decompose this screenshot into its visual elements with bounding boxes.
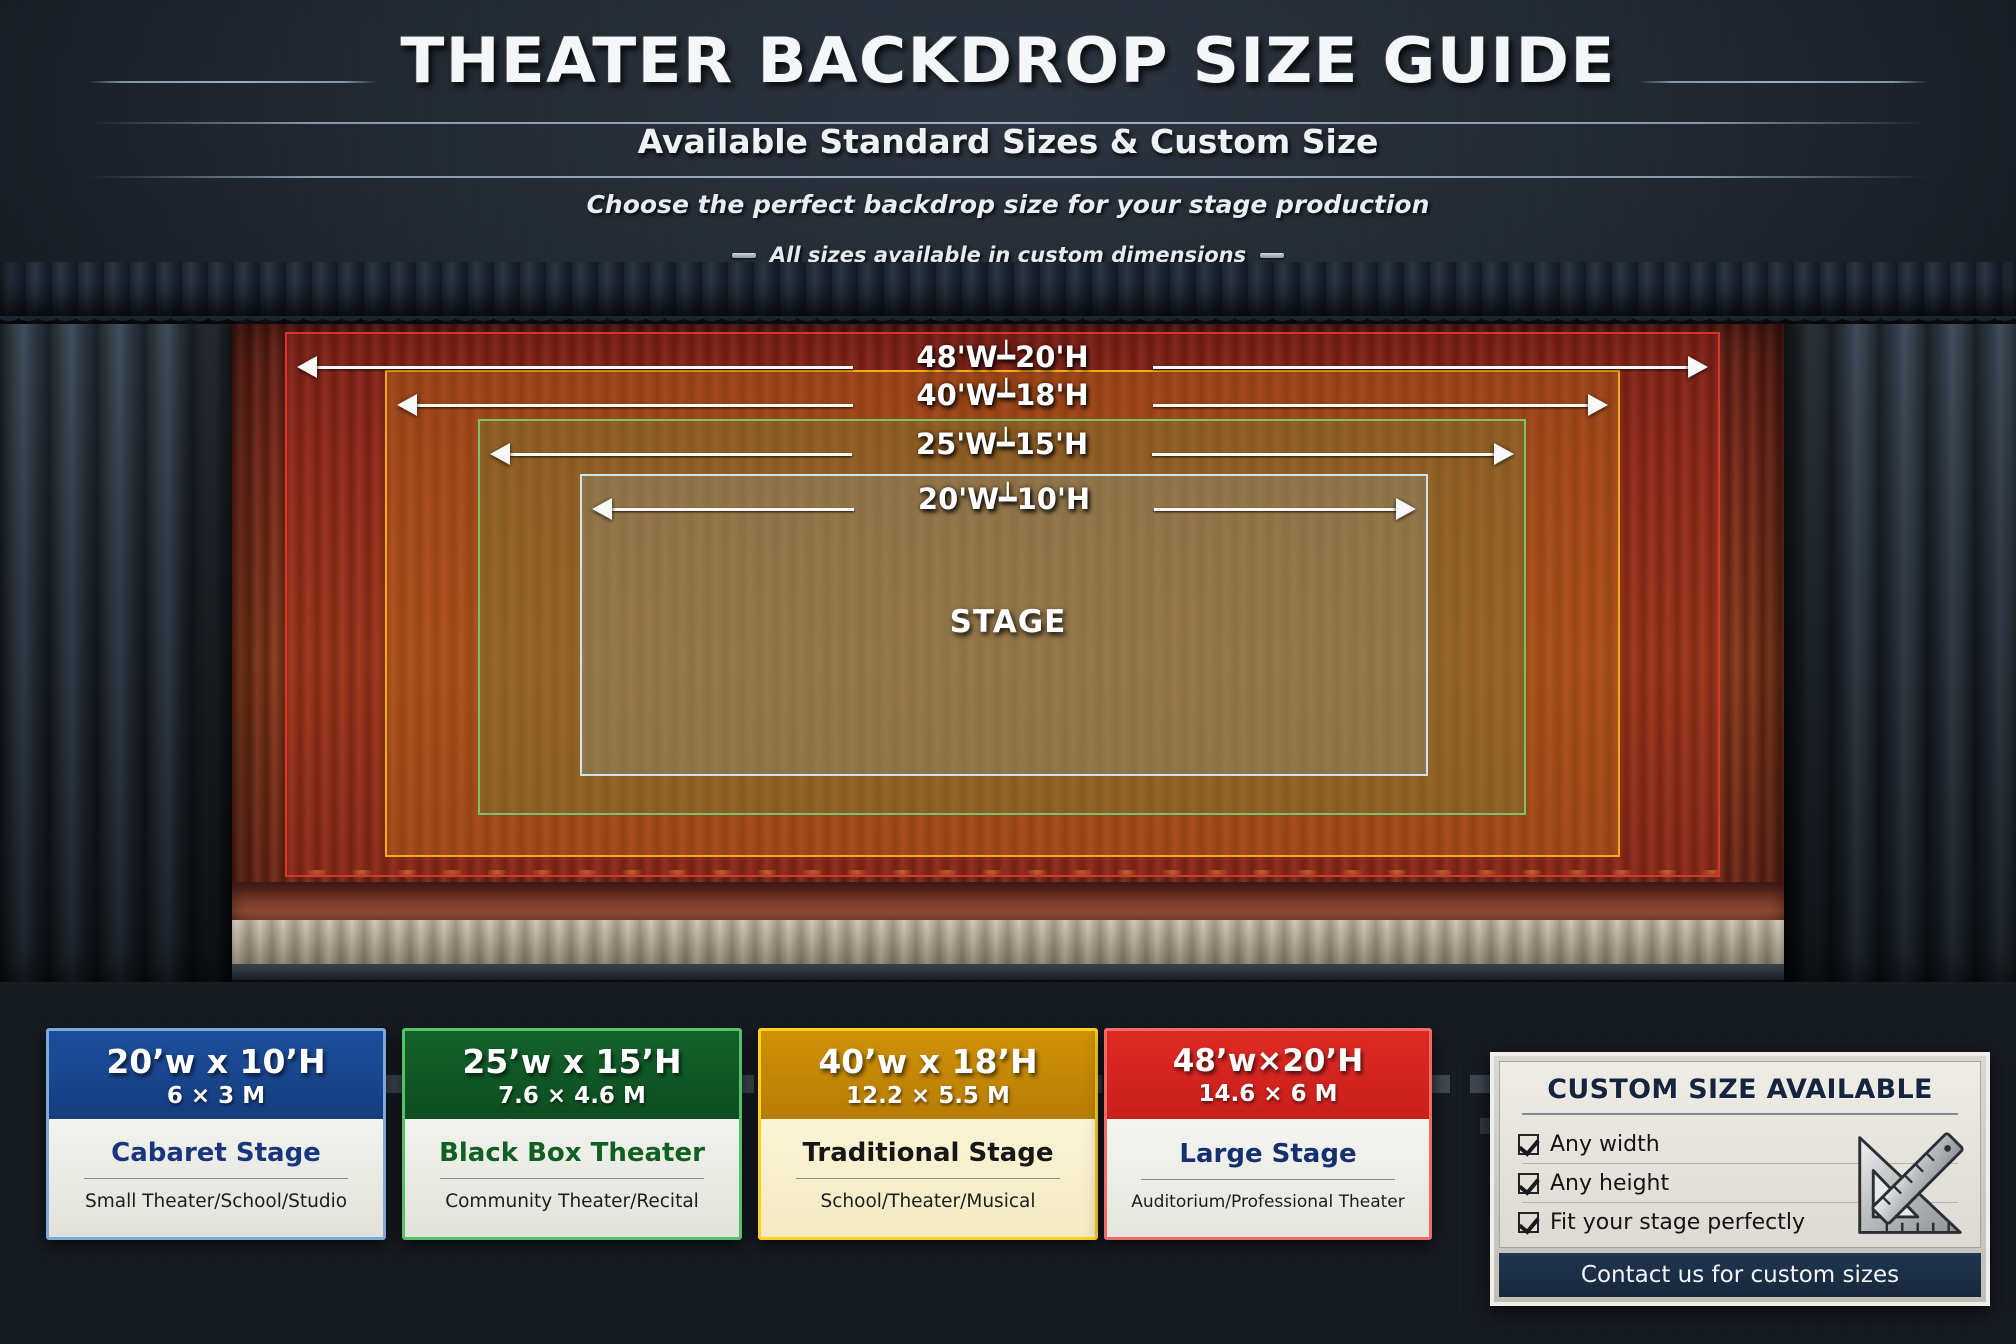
arrow-bar-right — [1153, 366, 1689, 369]
size-card-divider — [796, 1178, 1060, 1179]
size-card-divider — [1141, 1179, 1395, 1180]
dimension-arrow-20x10 — [592, 498, 1416, 520]
arrow-bar-right — [1152, 453, 1494, 456]
size-card-feet: 20’w x 10’H — [106, 1042, 325, 1081]
arrow-bar-right — [1153, 404, 1589, 407]
contact-bar-label: Contact us for custom sizes — [1581, 1262, 1899, 1288]
dimension-arrow-25x15 — [490, 443, 1514, 465]
custom-feature-label: Fit your stage perfectly — [1550, 1210, 1805, 1235]
size-card-meters: 7.6 × 4.6 M — [498, 1083, 646, 1109]
size-card-body: Traditional Stage School/Theater/Musical — [761, 1119, 1095, 1237]
size-card-usage: School/Theater/Musical — [821, 1191, 1036, 1212]
custom-feature-label: Any width — [1550, 1132, 1660, 1157]
arrow-bar-left — [612, 508, 854, 511]
size-card-divider — [84, 1178, 348, 1179]
size-card-body: Black Box Theater Community Theater/Reci… — [405, 1119, 739, 1237]
size-card-feet: 48’w×20’H — [1173, 1043, 1363, 1079]
checkbox-checked-icon[interactable] — [1518, 1134, 1539, 1155]
arrow-bar-left — [510, 453, 852, 456]
arrow-left-icon — [592, 498, 612, 520]
size-card-name: Black Box Theater — [439, 1138, 705, 1168]
checkbox-checked-icon[interactable] — [1518, 1212, 1539, 1233]
size-card-header: 48’w×20’H 14.6 × 6 M — [1107, 1031, 1429, 1119]
arrow-right-icon — [1688, 356, 1708, 378]
infographic-root: THEATER BACKDROP SIZE GUIDE Available St… — [0, 0, 2016, 1344]
size-card-traditional-stage[interactable]: 40’w x 18’H 12.2 × 5.5 M Traditional Sta… — [758, 1028, 1098, 1240]
size-card-feet: 25’w x 15’H — [462, 1042, 681, 1081]
size-card-header: 25’w x 15’H 7.6 × 4.6 M — [405, 1031, 739, 1119]
size-card-name: Cabaret Stage — [111, 1138, 321, 1168]
page-subtitle: Available Standard Sizes & Custom Size — [0, 122, 2016, 161]
arrow-bar-left — [317, 366, 853, 369]
stage-label: STAGE — [0, 604, 2016, 640]
ruler-triangle-icon — [1852, 1131, 1968, 1241]
size-card-usage: Small Theater/School/Studio — [85, 1191, 347, 1212]
divider-line-lower — [88, 176, 1928, 178]
page-tagline: Choose the perfect backdrop size for you… — [0, 190, 2016, 219]
size-card-header: 40’w x 18’H 12.2 × 5.5 M — [761, 1031, 1095, 1119]
stage-apron-lip — [160, 964, 1860, 980]
size-card-meters: 6 × 3 M — [167, 1083, 265, 1109]
size-card-header: 20’w x 10’H 6 × 3 M — [49, 1031, 383, 1119]
size-card-usage: Auditorium/Professional Theater — [1131, 1192, 1404, 1212]
custom-size-panel[interactable]: CUSTOM SIZE AVAILABLE Any width Any heig… — [1490, 1052, 1990, 1306]
custom-size-panel-inner: CUSTOM SIZE AVAILABLE Any width Any heig… — [1499, 1061, 1981, 1248]
custom-feature-label: Any height — [1550, 1171, 1669, 1196]
size-card-cabaret-stage[interactable]: 20’w x 10’H 6 × 3 M Cabaret Stage Small … — [46, 1028, 386, 1240]
arrow-right-icon — [1396, 498, 1416, 520]
size-card-large-stage[interactable]: 48’w×20’H 14.6 × 6 M Large Stage Auditor… — [1104, 1028, 1432, 1240]
page-title: THEATER BACKDROP SIZE GUIDE — [0, 24, 2016, 97]
dash-left-icon — [732, 253, 756, 258]
custom-size-divider — [1522, 1113, 1958, 1115]
arrow-left-icon — [397, 394, 417, 416]
arrow-bar-right — [1154, 508, 1396, 511]
size-card-body: Large Stage Auditorium/Professional Thea… — [1107, 1119, 1429, 1237]
size-card-name: Traditional Stage — [803, 1138, 1054, 1168]
size-card-body: Cabaret Stage Small Theater/School/Studi… — [49, 1119, 383, 1237]
dash-right-icon — [1260, 253, 1284, 258]
arrow-right-icon — [1494, 443, 1514, 465]
checkbox-checked-icon[interactable] — [1518, 1173, 1539, 1194]
header: THEATER BACKDROP SIZE GUIDE Available St… — [0, 0, 2016, 276]
size-card-black-box-theater[interactable]: 25’w x 15’H 7.6 × 4.6 M Black Box Theate… — [402, 1028, 742, 1240]
contact-bar[interactable]: Contact us for custom sizes — [1499, 1253, 1981, 1297]
size-card-meters: 14.6 × 6 M — [1199, 1081, 1338, 1107]
size-card-usage: Community Theater/Recital — [445, 1191, 699, 1212]
dimension-arrow-48x20 — [297, 356, 1708, 378]
stage-apron — [180, 920, 1840, 966]
arrow-left-icon — [490, 443, 510, 465]
dimension-arrow-40x18 — [397, 394, 1608, 416]
size-card-divider — [440, 1178, 704, 1179]
size-card-meters: 12.2 × 5.5 M — [846, 1083, 1010, 1109]
arrow-bar-left — [417, 404, 853, 407]
size-card-name: Large Stage — [1179, 1139, 1356, 1169]
size-card-feet: 40’w x 18’H — [818, 1042, 1037, 1081]
arrow-left-icon — [297, 356, 317, 378]
custom-size-title: CUSTOM SIZE AVAILABLE — [1518, 1074, 1962, 1105]
curtain-valance — [0, 262, 2016, 324]
arrow-right-icon — [1588, 394, 1608, 416]
